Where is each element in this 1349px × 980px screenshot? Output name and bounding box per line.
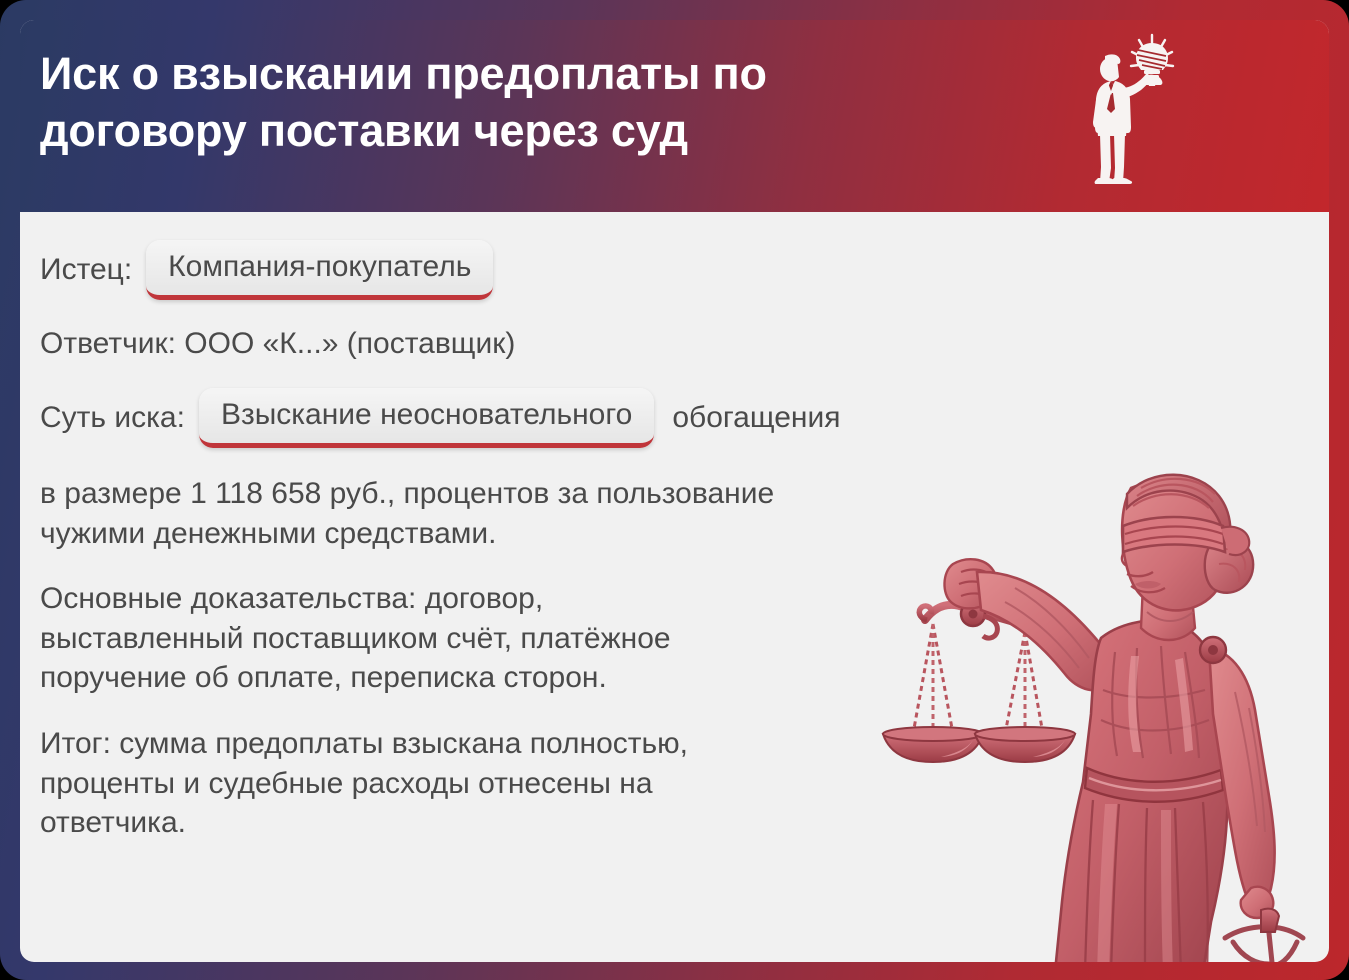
result-paragraph: Итог: сумма предоплаты взыскана полность… <box>40 724 840 843</box>
claim-trailing-text: обогащения <box>672 400 840 436</box>
plaintiff-row: Истец: Компания-покупатель <box>40 240 1309 300</box>
card-header: Иск о взыскании предоплаты по договору п… <box>20 20 1329 212</box>
businessman-with-lightbulb-icon <box>1081 26 1191 191</box>
claim-row: Суть иска: Взыскание неосновательного об… <box>40 388 1309 448</box>
claim-detail: в размере 1 118 658 руб., процентов за п… <box>40 474 840 553</box>
info-card: Иск о взыскании предоплаты по договору п… <box>0 0 1349 980</box>
card-inner: Иск о взыскании предоплаты по договору п… <box>20 20 1329 962</box>
defendant-line: Ответчик: ООО «К...» (поставщик) <box>40 326 1309 362</box>
lady-justice-illustration <box>865 452 1329 962</box>
plaintiff-chip[interactable]: Компания-покупатель <box>146 240 493 300</box>
claim-label: Суть иска: <box>40 400 185 436</box>
evidence-paragraph: Основные доказательства: договор, выстав… <box>40 579 840 698</box>
plaintiff-label: Истец: <box>40 252 132 288</box>
claim-chip[interactable]: Взыскание неосновательного <box>199 388 654 448</box>
card-body: Истец: Компания-покупатель Ответчик: ООО… <box>20 212 1329 962</box>
page-title: Иск о взыскании предоплаты по договору п… <box>40 46 920 159</box>
